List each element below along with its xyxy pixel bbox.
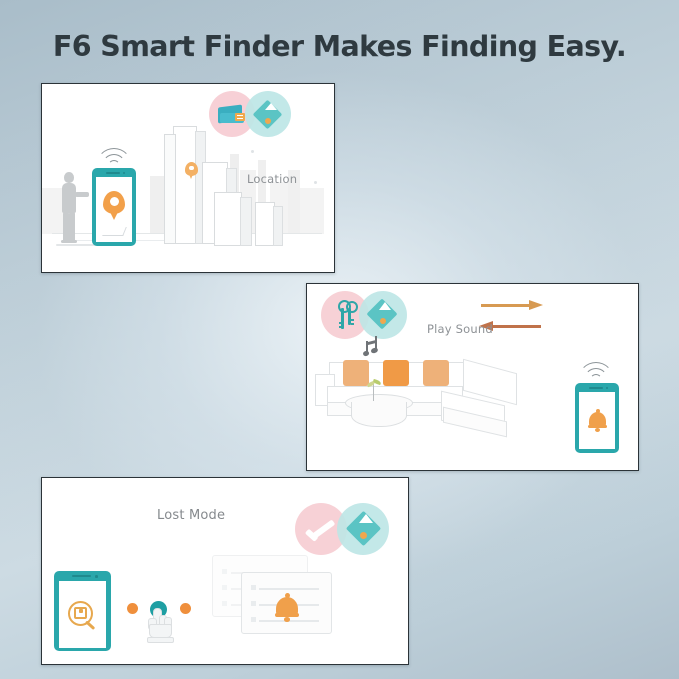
music-notes-icon — [363, 336, 385, 360]
wallet-icon — [218, 104, 247, 124]
building-tall — [164, 134, 176, 244]
arrow-right — [481, 300, 543, 310]
diamond-tracker-icon — [368, 300, 398, 330]
badge-pair-lostmode — [295, 503, 395, 555]
person-silhouette — [56, 172, 88, 244]
diamond-tracker-icon — [347, 512, 381, 546]
phone-lost-mode[interactable] — [54, 571, 111, 651]
phone-camera — [95, 575, 98, 578]
plant-icon — [367, 380, 383, 402]
phone-play-sound[interactable] — [575, 383, 619, 453]
skyline-silhouette — [300, 188, 324, 234]
progress-dot — [127, 603, 138, 614]
phone-location[interactable] — [92, 168, 136, 246]
phone-screen — [96, 177, 132, 242]
progress-dot — [180, 603, 191, 614]
map-pin-icon — [103, 191, 125, 221]
building-front-side — [240, 197, 252, 246]
badge-pair-playsound — [321, 291, 413, 339]
phone-speaker — [72, 575, 91, 577]
phone-camera — [123, 172, 125, 174]
search-card-icon — [68, 601, 100, 631]
phone-camera — [606, 387, 608, 389]
keys-icon — [335, 300, 359, 331]
phone-speaker — [106, 172, 120, 174]
building-tall — [173, 126, 197, 244]
building-small — [255, 202, 275, 246]
checkmark-icon — [307, 520, 337, 540]
decor-speck — [314, 181, 317, 184]
page-title: F6 Smart Finder Makes Finding Easy. — [0, 30, 679, 63]
wifi-signal-icon — [578, 362, 616, 382]
building-front — [214, 192, 242, 246]
phone-screen — [59, 581, 106, 648]
panel-location-label: Location — [247, 172, 297, 186]
screen-swoosh — [102, 227, 127, 236]
product-feature-graphic: F6 Smart Finder Makes Finding Easy. — [0, 0, 679, 679]
decor-speck — [251, 150, 254, 153]
hand-pointer-icon — [147, 608, 173, 644]
bell-icon — [275, 593, 299, 621]
phone-speaker — [589, 387, 603, 389]
map-pin-marker — [185, 162, 198, 180]
diamond-tracker-icon — [254, 101, 282, 129]
wifi-signal-icon — [94, 148, 134, 168]
panel-play-sound-label: Play Sound — [427, 322, 493, 336]
bell-icon — [588, 409, 607, 432]
sofa-cushion — [423, 360, 449, 386]
panel-play-sound: Play Sound — [306, 283, 639, 471]
sofa-cushion — [343, 360, 369, 386]
panel-lost-mode-label: Lost Mode — [157, 508, 225, 523]
notification-card-front[interactable] — [241, 572, 332, 634]
panel-location: Location — [41, 83, 335, 273]
badge-pair-location — [209, 91, 299, 139]
panel-lost-mode: Lost Mode — [41, 477, 409, 665]
building-small-side — [273, 206, 283, 246]
sofa-cushion — [383, 360, 409, 386]
phone-screen — [579, 392, 615, 449]
